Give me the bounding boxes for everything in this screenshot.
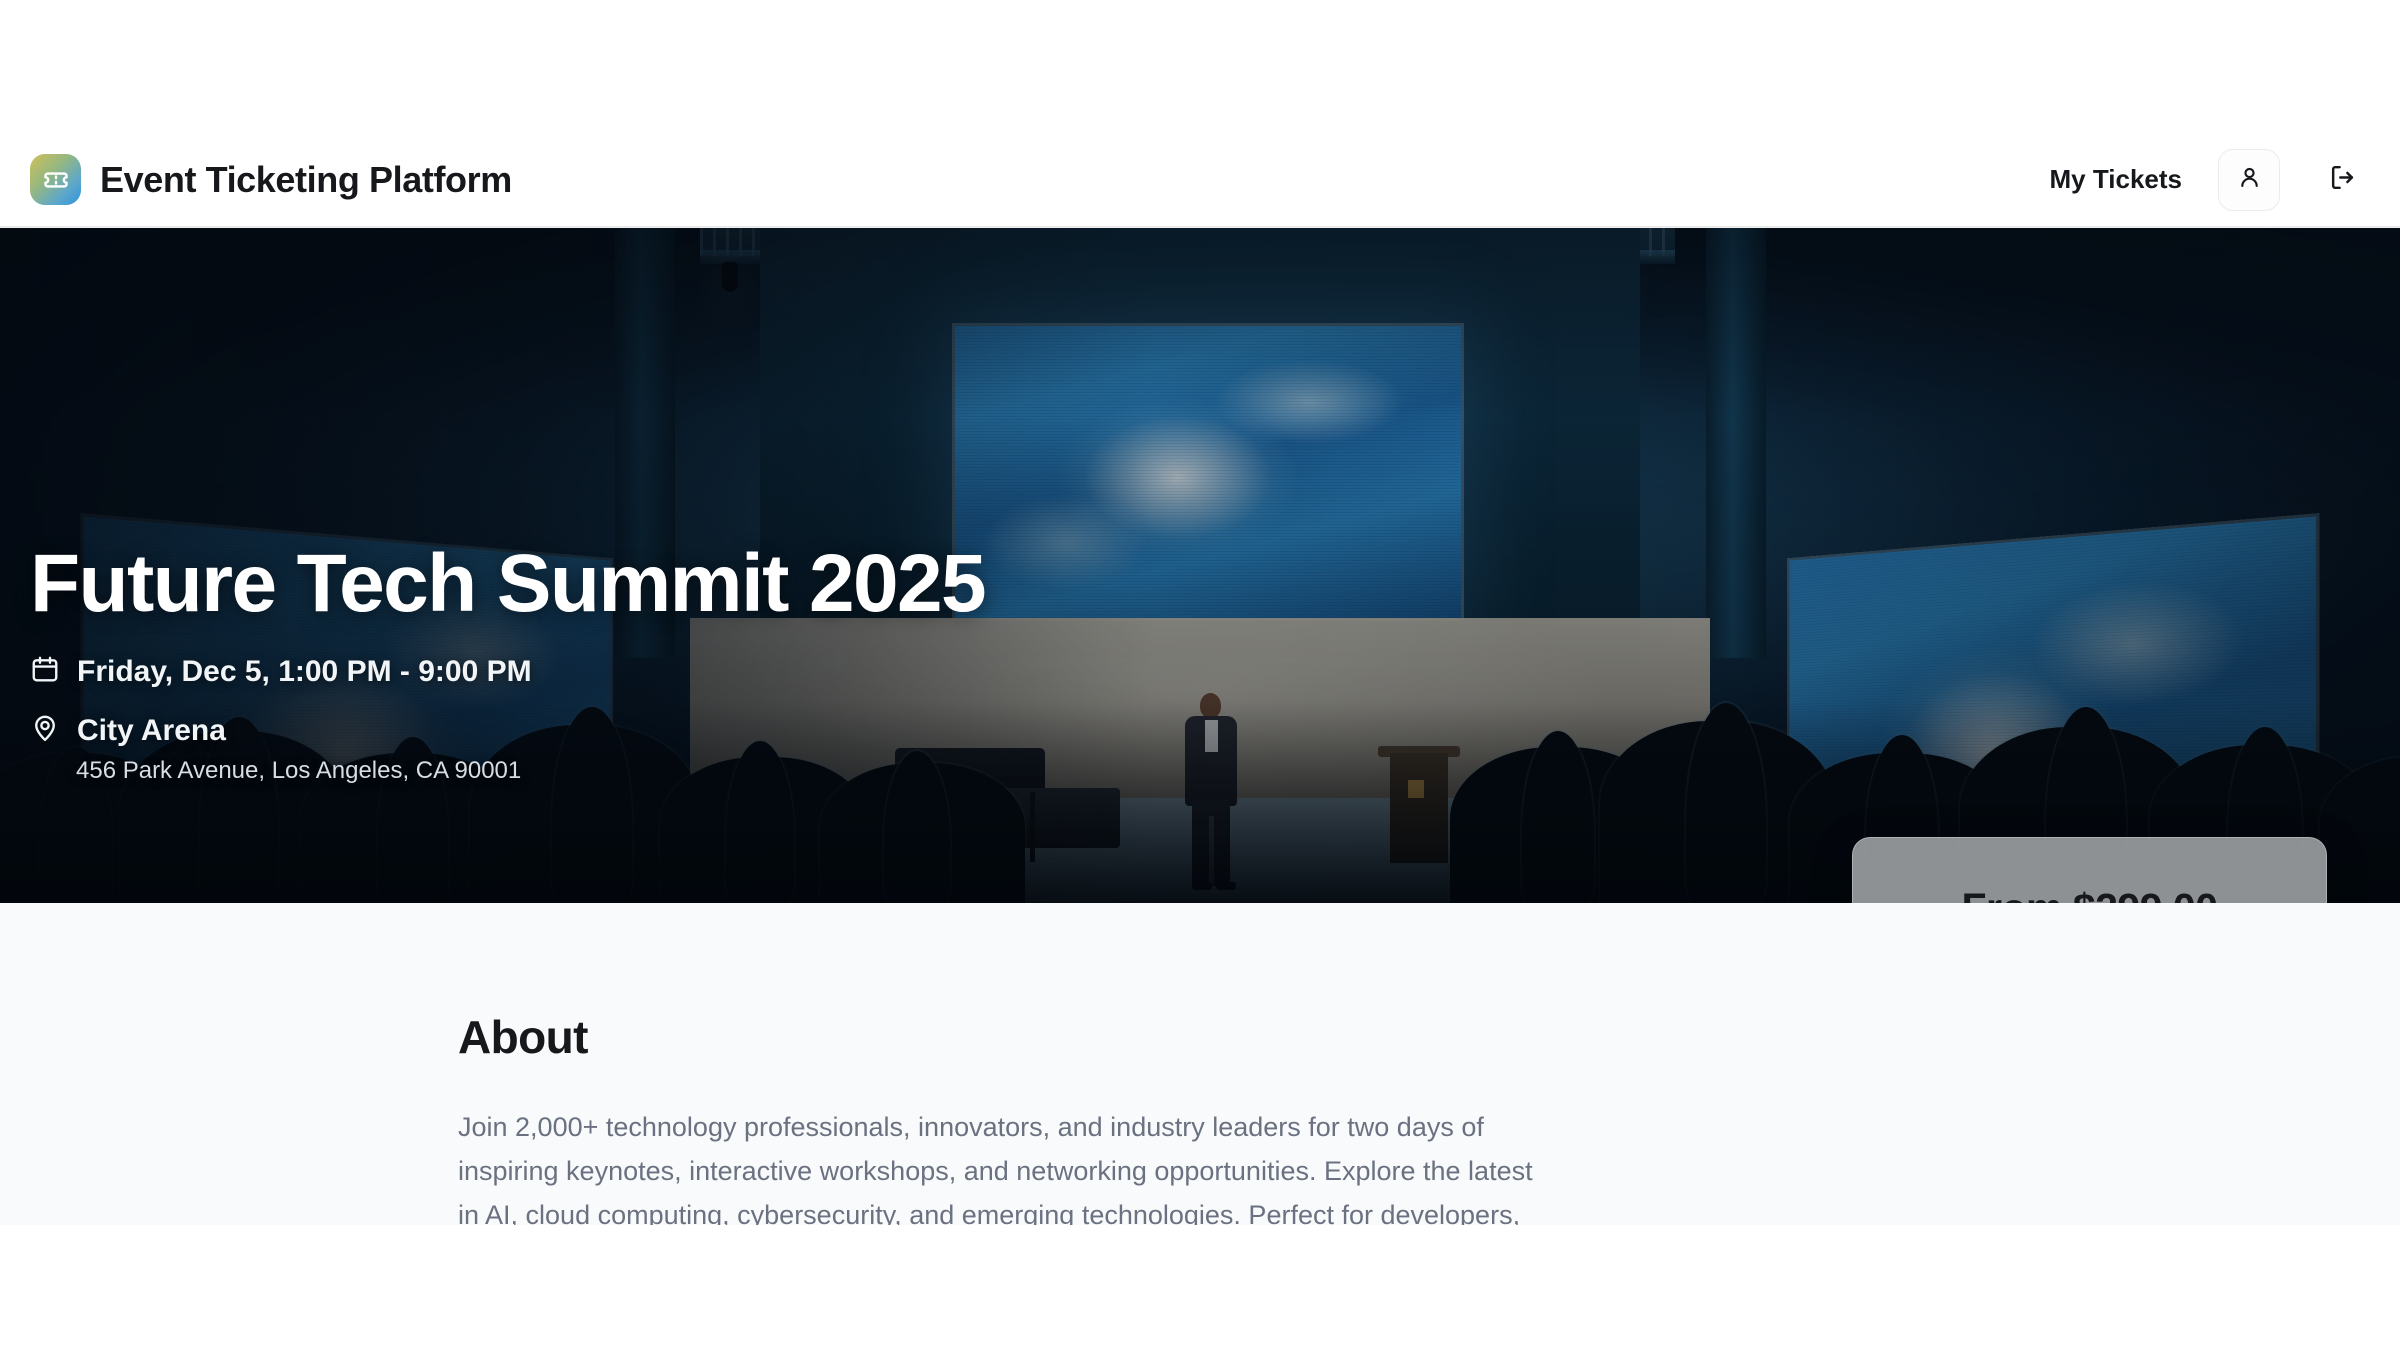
event-date-text: Friday, Dec 5, 1:00 PM - 9:00 PM	[77, 655, 532, 689]
venue-name: City Arena	[77, 714, 226, 748]
about-heading: About	[458, 1010, 1560, 1064]
site-header: Event Ticketing Platform My Tickets	[0, 131, 2400, 228]
ticket-icon	[30, 154, 81, 205]
brand[interactable]: Event Ticketing Platform	[30, 154, 512, 205]
hero-section: Future Tech Summit 2025 Friday, Dec 5, 1…	[0, 228, 2400, 903]
about-section: About Join 2,000+ technology professiona…	[0, 903, 2400, 1225]
event-location-row: City Arena	[30, 713, 985, 748]
nav-my-tickets[interactable]: My Tickets	[2050, 164, 2182, 195]
ticket-price-card: From $299.00 Get Tickets	[1852, 837, 2327, 903]
header-actions: My Tickets	[2050, 149, 2370, 211]
logout-icon	[2328, 162, 2359, 198]
event-detail-page: Event Ticketing Platform My Tickets	[0, 0, 2400, 1350]
venue-address: 456 Park Avenue, Los Angeles, CA 90001	[76, 757, 985, 785]
event-date-row: Friday, Dec 5, 1:00 PM - 9:00 PM	[30, 654, 985, 689]
hero-content: Future Tech Summit 2025 Friday, Dec 5, 1…	[30, 541, 985, 785]
calendar-icon	[30, 654, 60, 689]
brand-title: Event Ticketing Platform	[100, 159, 512, 201]
logout-button[interactable]	[2316, 153, 2370, 207]
map-pin-icon	[30, 713, 60, 748]
account-button[interactable]	[2218, 149, 2280, 211]
price-from-label: From $299.00	[1961, 885, 2217, 903]
event-title: Future Tech Summit 2025	[30, 541, 985, 626]
page-bottom-whitespace	[0, 1225, 2400, 1350]
user-icon	[2236, 164, 2263, 196]
